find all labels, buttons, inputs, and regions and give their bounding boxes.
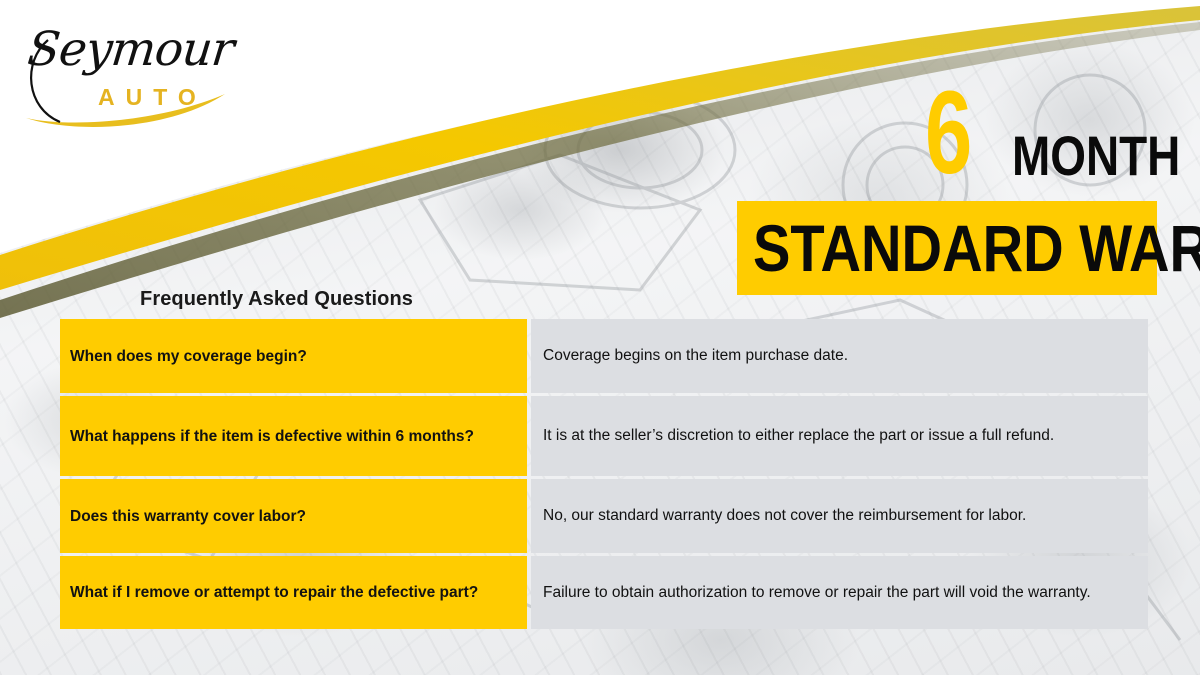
faq-answer-cell: It is at the seller’s discretion to eith… <box>531 396 1148 476</box>
standard-warranty-title: STANDARD WARRANTY <box>753 212 1200 284</box>
brand-logo[interactable]: Seymour AUTO <box>20 22 235 132</box>
faq-question-cell: What if I remove or attempt to repair th… <box>60 556 527 629</box>
table-row[interactable]: Does this warranty cover labor? No, our … <box>60 479 1148 553</box>
faq-section-title: Frequently Asked Questions <box>140 288 413 311</box>
logo-subtitle: AUTO <box>98 84 207 111</box>
faq-answer-text: It is at the seller’s discretion to eith… <box>543 425 1136 447</box>
faq-answer-cell: Coverage begins on the item purchase dat… <box>531 319 1148 393</box>
faq-answer-text: No, our standard warranty does not cover… <box>543 505 1136 527</box>
standard-warranty-banner: STANDARD WARRANTY <box>737 201 1157 295</box>
table-row[interactable]: What if I remove or attempt to repair th… <box>60 556 1148 629</box>
warranty-slide: Seymour AUTO 6 MONTH STANDARD WARRANTY F… <box>0 0 1200 675</box>
duration-unit: MONTH <box>1012 128 1180 184</box>
faq-question-text: What if I remove or attempt to repair th… <box>70 582 478 603</box>
logo-wordmark: Seymour <box>25 22 236 77</box>
faq-answer-text: Failure to obtain authorization to remov… <box>543 582 1136 604</box>
faq-question-text: What happens if the item is defective wi… <box>70 426 474 447</box>
faq-question-cell: When does my coverage begin? <box>60 319 527 393</box>
faq-answer-text: Coverage begins on the item purchase dat… <box>543 345 1136 367</box>
table-row[interactable]: What happens if the item is defective wi… <box>60 396 1148 476</box>
table-row[interactable]: When does my coverage begin? Coverage be… <box>60 319 1148 393</box>
faq-question-text: When does my coverage begin? <box>70 346 307 367</box>
faq-answer-cell: No, our standard warranty does not cover… <box>531 479 1148 553</box>
duration-number: 6 <box>925 78 971 188</box>
faq-question-cell: Does this warranty cover labor? <box>60 479 527 553</box>
faq-question-text: Does this warranty cover labor? <box>70 506 306 527</box>
faq-table: When does my coverage begin? Coverage be… <box>60 319 1148 632</box>
faq-question-cell: What happens if the item is defective wi… <box>60 396 527 476</box>
faq-answer-cell: Failure to obtain authorization to remov… <box>531 556 1148 629</box>
